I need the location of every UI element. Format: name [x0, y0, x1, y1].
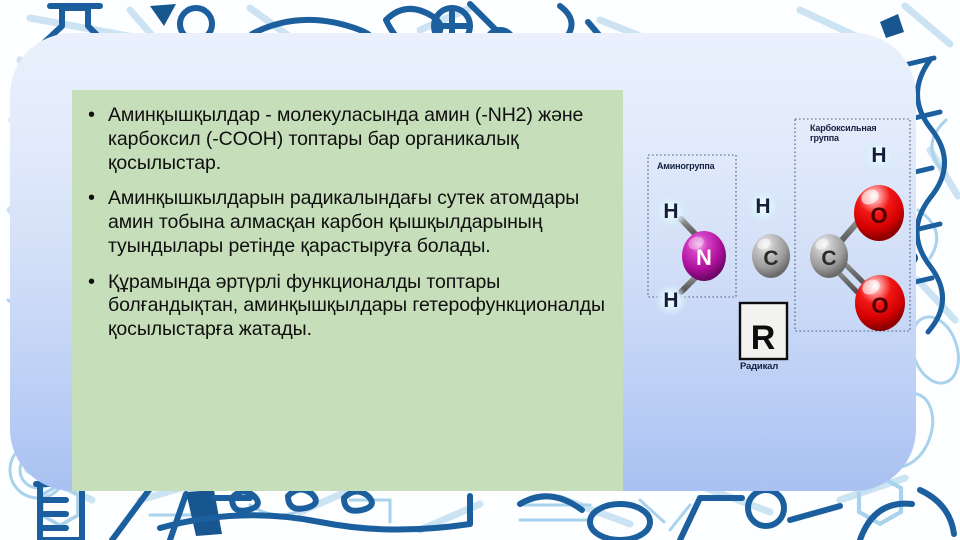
bullet-item-3: Құрамында әртүрлі функционалды топтары б… [82, 271, 617, 342]
atom-label-h-amino-bottom: H [663, 289, 678, 312]
atom-label-h-alpha: H [755, 195, 770, 218]
atom-label-c-alpha: C [763, 247, 778, 270]
atom-label-o-hydroxyl: O [870, 203, 887, 228]
amino-acid-structure-diagram: H H H H N C C O O R Аминогруппа Карбокси… [630, 107, 916, 397]
text-content-box: Аминқышқылдар - молекуласында амин (-NH2… [72, 90, 623, 491]
atom-label-c-carboxyl: C [821, 247, 836, 270]
atom-label-o-carbonyl: O [871, 293, 888, 318]
amino-group-label: Аминогруппа [657, 161, 714, 171]
bullet-item-2: Аминқышкылдарын радикалындағы сутек атом… [82, 187, 617, 258]
bullet-item-1: Аминқышқылдар - молекуласында амин (-NH2… [82, 104, 617, 175]
carboxyl-group-label: Карбоксильная группа [810, 123, 876, 143]
atom-label-r: R [751, 319, 776, 357]
slide-content-panel: Аминқышқылдар - молекуласында амин (-NH2… [10, 33, 916, 491]
slide-canvas: Аминқышқылдар - молекуласында амин (-NH2… [0, 0, 960, 540]
bullet-list: Аминқышқылдар - молекуласында амин (-NH2… [82, 104, 617, 342]
atom-label-h-amino-top: H [663, 200, 678, 223]
radical-label: Радикал [740, 362, 778, 373]
atom-label-n: N [696, 245, 712, 270]
atom-label-h-hydroxyl: H [871, 144, 886, 167]
